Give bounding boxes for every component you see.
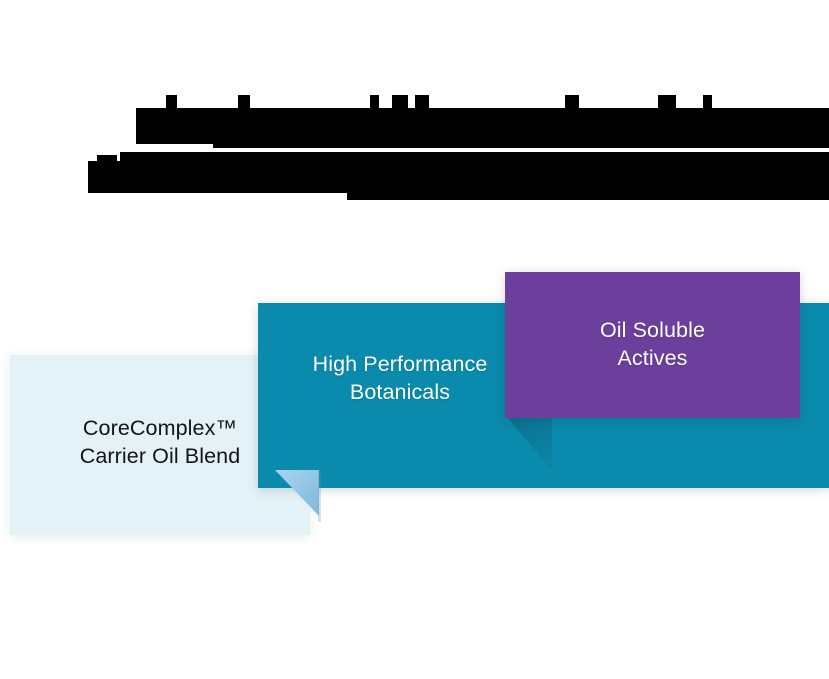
card-oil-soluble-actives[interactable]: Oil Soluble Actives [505,272,800,418]
diagram-canvas: Two-line heading fully obscured by solid… [0,0,829,679]
layered-cards-diagram: CoreComplex™ Carrier Oil Blend High Perf… [0,0,829,679]
card-carrier-oil-blend-label: CoreComplex™ Carrier Oil Blend [80,415,241,474]
fold-corner-botanicals [275,470,321,526]
card-oil-soluble-actives-label: Oil Soluble Actives [600,317,705,372]
fold-corner-icon [275,470,321,526]
fold-corner-actives [505,415,555,477]
card-high-performance-botanicals-label: High Performance Botanicals [270,351,530,406]
fold-corner-icon [505,415,555,477]
